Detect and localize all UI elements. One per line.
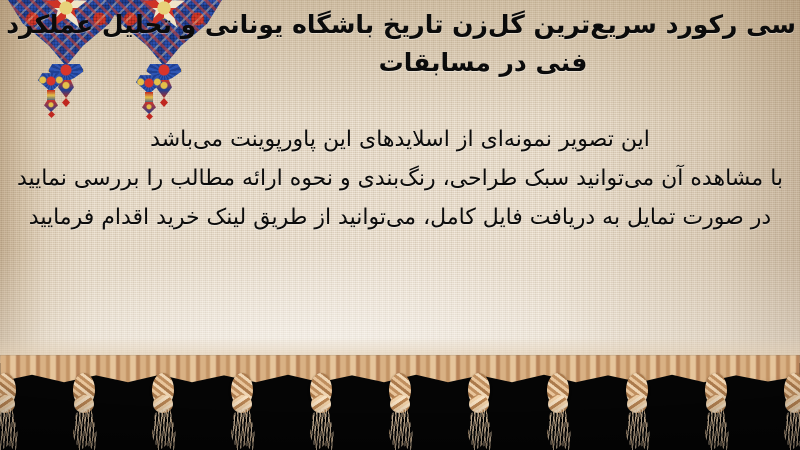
fringe-tassel: [462, 373, 496, 450]
fringe-tassel: [0, 373, 22, 450]
fringe-tassel: [67, 373, 101, 450]
carpet-fringe: [0, 355, 800, 450]
body-line-3: در صورت تمایل به دریافت فایل کامل، می‌تو…: [0, 198, 800, 237]
slide-title-line-1: سی رکورد سریع‌ترین گل‌زن تاریخ باشگاه یو…: [170, 6, 796, 44]
body-line-2: با مشاهده آن می‌توانید سبک طراحی، رنگ‌بن…: [0, 159, 800, 198]
fringe-tassel: [383, 373, 417, 450]
fringe-tassel: [778, 373, 800, 450]
fringe-tassel: [699, 373, 733, 450]
slide-title-line-2: فنی در مسابقات: [170, 44, 796, 82]
slide-title: سی رکورد سریع‌ترین گل‌زن تاریخ باشگاه یو…: [0, 6, 800, 82]
fringe-tassel-row: [0, 373, 800, 450]
fringe-tassel: [620, 373, 654, 450]
slide-canvas: سی رکورد سریع‌ترین گل‌زن تاریخ باشگاه یو…: [0, 0, 800, 450]
fringe-tassel: [146, 373, 180, 450]
slide-body-text: این تصویر نمونه‌ای از اسلایدهای این پاور…: [0, 120, 800, 237]
fringe-tassel: [541, 373, 575, 450]
body-line-1: این تصویر نمونه‌ای از اسلایدهای این پاور…: [0, 120, 800, 159]
fringe-tassel: [225, 373, 259, 450]
fringe-tassel: [304, 373, 338, 450]
